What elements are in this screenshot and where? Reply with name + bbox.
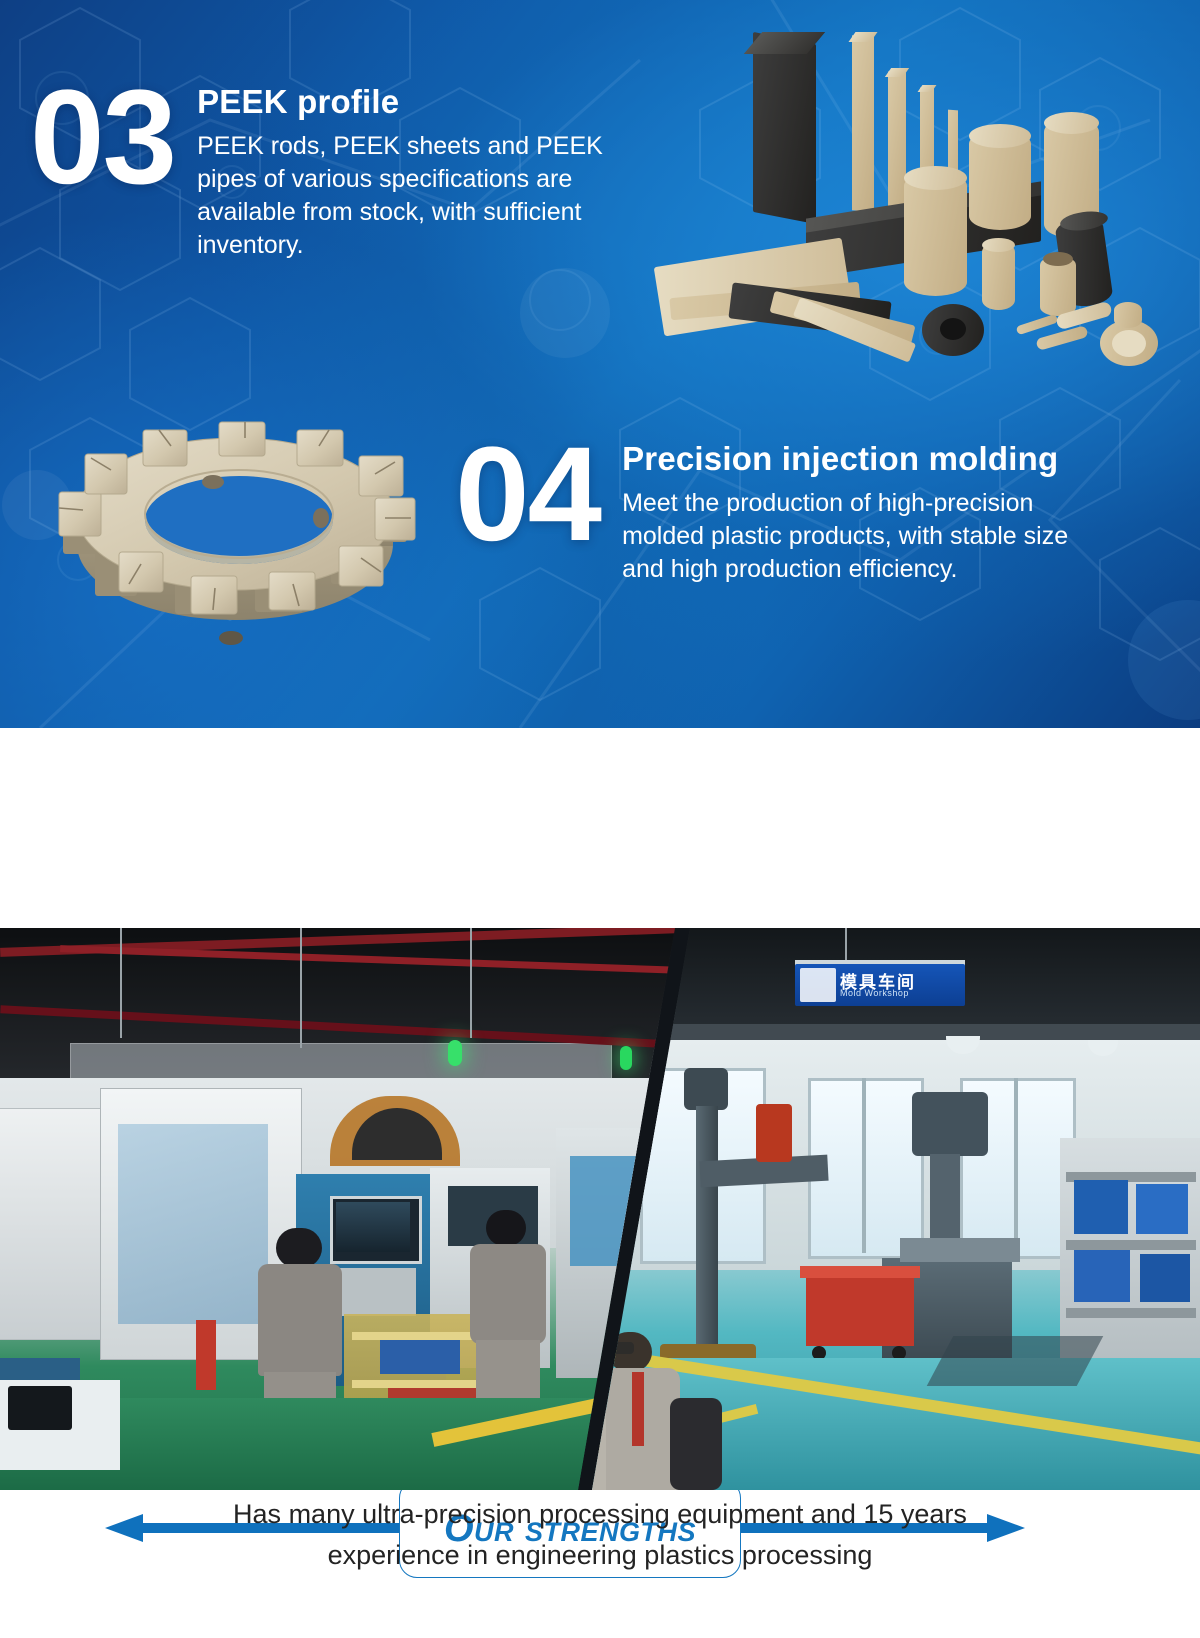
workshop-photos: 模具车间 Mold Workshop <box>0 928 1200 1490</box>
feature-body-04: Meet the production of high-precision mo… <box>622 487 1102 586</box>
feature-body-03: PEEK rods, PEEK sheets and PEEK pipes of… <box>197 130 627 262</box>
feature-number-03: 03 <box>30 76 175 199</box>
bokeh-circle <box>520 268 610 358</box>
feature-number-04: 04 <box>455 433 600 556</box>
caption-line-2: experience in engineering plastics proce… <box>0 1535 1200 1576</box>
feature-item-03: 03 PEEK profile PEEK rods, PEEK sheets a… <box>30 76 627 262</box>
feature-title-04: Precision injection molding <box>622 441 1102 477</box>
feature-item-04: 04 Precision injection molding Meet the … <box>455 433 1102 586</box>
workshop-caption: Has many ultra-precision processing equi… <box>0 1494 1200 1575</box>
feature-title-03: PEEK profile <box>197 84 627 120</box>
caption-line-1: Has many ultra-precision processing equi… <box>0 1494 1200 1535</box>
peek-gear-ring-photo <box>35 392 435 672</box>
strengths-banner-section: Our strengths <box>0 728 1200 928</box>
product-feature-page: 03 PEEK profile PEEK rods, PEEK sheets a… <box>0 0 1200 1638</box>
features-blue-panel: 03 PEEK profile PEEK rods, PEEK sheets a… <box>0 0 1200 728</box>
peek-stock-profiles-photo <box>620 20 1180 365</box>
cnc-machining-workshop-photo <box>0 928 680 1490</box>
mold-workshop-sign-en: Mold Workshop <box>840 988 960 998</box>
